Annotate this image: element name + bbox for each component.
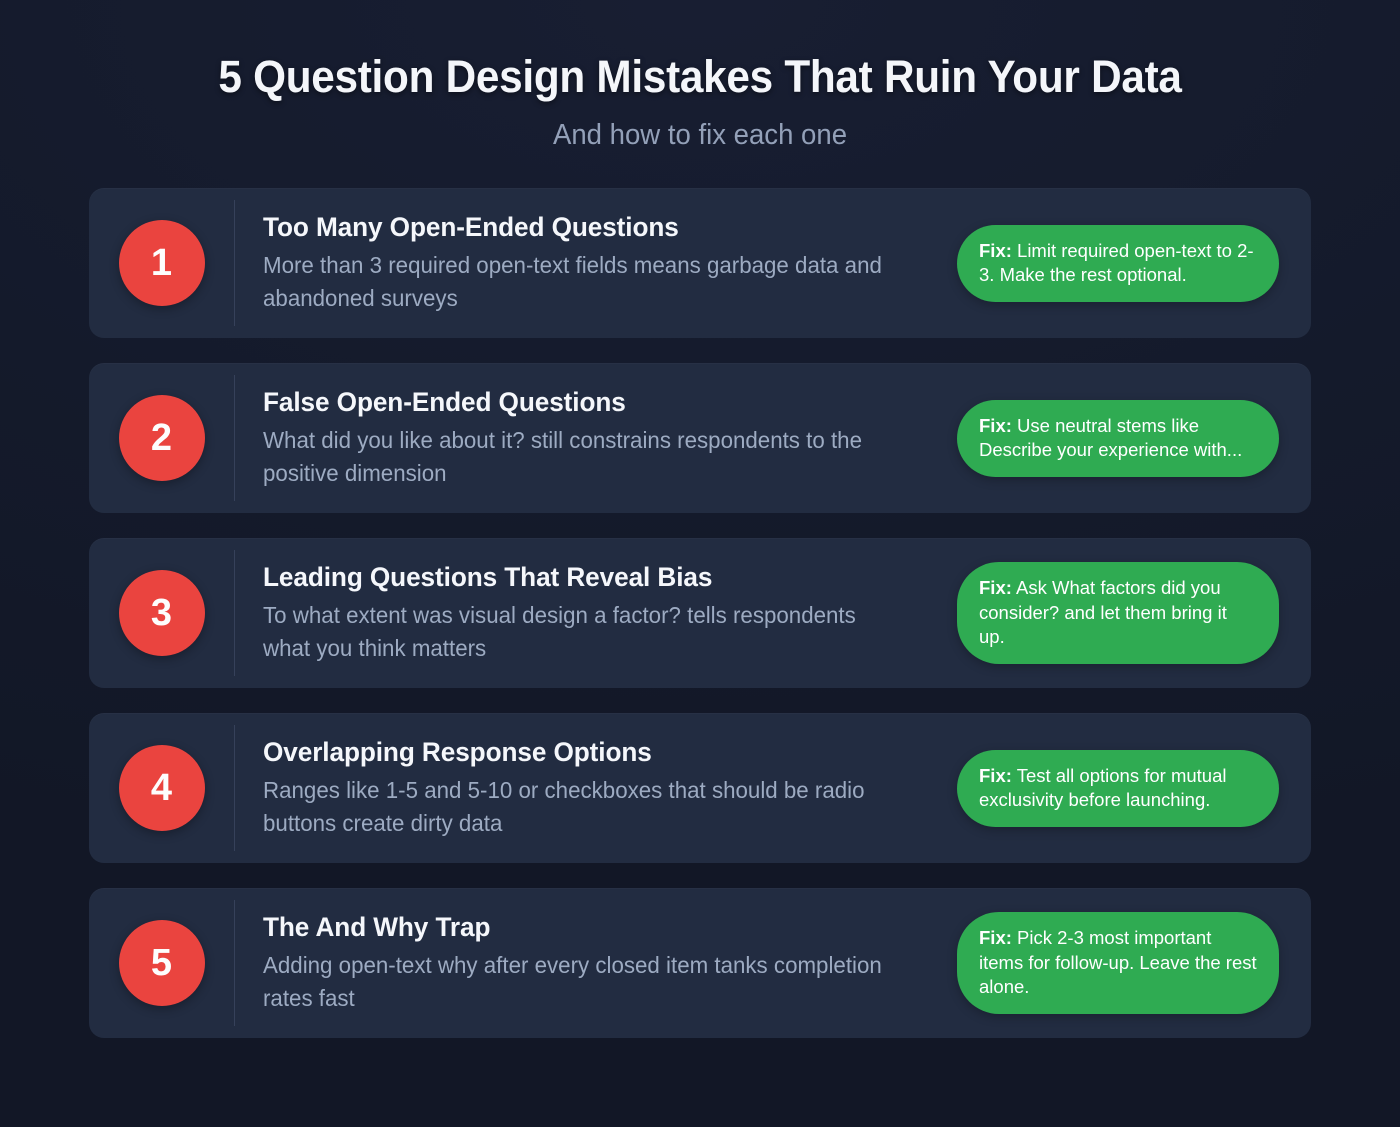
poster-header: 5 Question Design Mistakes That Ruin You… — [0, 0, 1400, 152]
fix-pill: Fix: Limit required open-text to 2-3. Ma… — [957, 225, 1279, 302]
fix-text: Test all options for mutual exclusivity … — [979, 765, 1226, 810]
badge-column: 3 — [89, 538, 234, 688]
mistake-description: Adding open-text why after every closed … — [263, 949, 884, 1015]
fix-text: Ask What factors did you consider? and l… — [979, 577, 1227, 647]
text-column: The And Why Trap Adding open-text why af… — [235, 911, 957, 1016]
text-column: Too Many Open-Ended Questions More than … — [235, 211, 957, 316]
page-subtitle: And how to fix each one — [35, 119, 1365, 152]
mistake-title: Leading Questions That Reveal Bias — [263, 561, 919, 593]
badge-column: 5 — [89, 888, 234, 1038]
number-badge: 1 — [119, 220, 205, 306]
text-column: Overlapping Response Options Ranges like… — [235, 736, 957, 841]
infographic-poster: 5 Question Design Mistakes That Ruin You… — [0, 0, 1400, 1127]
fix-pill: Fix: Test all options for mutual exclusi… — [957, 750, 1279, 827]
mistake-title: Overlapping Response Options — [263, 736, 919, 768]
fix-pill: Fix: Pick 2-3 most important items for f… — [957, 912, 1279, 1013]
fix-column: Fix: Test all options for mutual exclusi… — [957, 750, 1287, 827]
fix-text: Use neutral stems like Describe your exp… — [979, 415, 1242, 460]
fix-pill: Fix: Use neutral stems like Describe you… — [957, 400, 1279, 477]
fix-text: Limit required open-text to 2-3. Make th… — [979, 240, 1254, 285]
mistake-description: More than 3 required open-text fields me… — [263, 249, 884, 315]
number-badge: 3 — [119, 570, 205, 656]
mistake-title: The And Why Trap — [263, 911, 919, 943]
fix-pill: Fix: Ask What factors did you consider? … — [957, 562, 1279, 663]
badge-column: 1 — [89, 188, 234, 338]
fix-label: Fix: — [979, 765, 1012, 786]
list-item: 1 Too Many Open-Ended Questions More tha… — [89, 188, 1311, 338]
fix-label: Fix: — [979, 927, 1012, 948]
fix-label: Fix: — [979, 577, 1012, 598]
fix-column: Fix: Ask What factors did you consider? … — [957, 562, 1287, 663]
fix-column: Fix: Pick 2-3 most important items for f… — [957, 912, 1287, 1013]
fix-column: Fix: Limit required open-text to 2-3. Ma… — [957, 225, 1287, 302]
list-item: 5 The And Why Trap Adding open-text why … — [89, 888, 1311, 1038]
page-title: 5 Question Design Mistakes That Ruin You… — [42, 50, 1358, 103]
badge-column: 2 — [89, 363, 234, 513]
mistake-description: To what extent was visual design a facto… — [263, 599, 884, 665]
mistake-title: False Open-Ended Questions — [263, 386, 919, 418]
fix-text: Pick 2-3 most important items for follow… — [979, 927, 1257, 997]
fix-label: Fix: — [979, 240, 1012, 261]
mistake-list: 1 Too Many Open-Ended Questions More tha… — [89, 188, 1311, 1038]
mistake-description: Ranges like 1-5 and 5-10 or checkboxes t… — [263, 774, 884, 840]
list-item: 4 Overlapping Response Options Ranges li… — [89, 713, 1311, 863]
fix-column: Fix: Use neutral stems like Describe you… — [957, 400, 1287, 477]
mistake-description: What did you like about it? still constr… — [263, 424, 884, 490]
fix-label: Fix: — [979, 415, 1012, 436]
list-item: 3 Leading Questions That Reveal Bias To … — [89, 538, 1311, 688]
number-badge: 4 — [119, 745, 205, 831]
list-item: 2 False Open-Ended Questions What did yo… — [89, 363, 1311, 513]
number-badge: 2 — [119, 395, 205, 481]
mistake-title: Too Many Open-Ended Questions — [263, 211, 919, 243]
text-column: False Open-Ended Questions What did you … — [235, 386, 957, 491]
number-badge: 5 — [119, 920, 205, 1006]
text-column: Leading Questions That Reveal Bias To wh… — [235, 561, 957, 666]
badge-column: 4 — [89, 713, 234, 863]
